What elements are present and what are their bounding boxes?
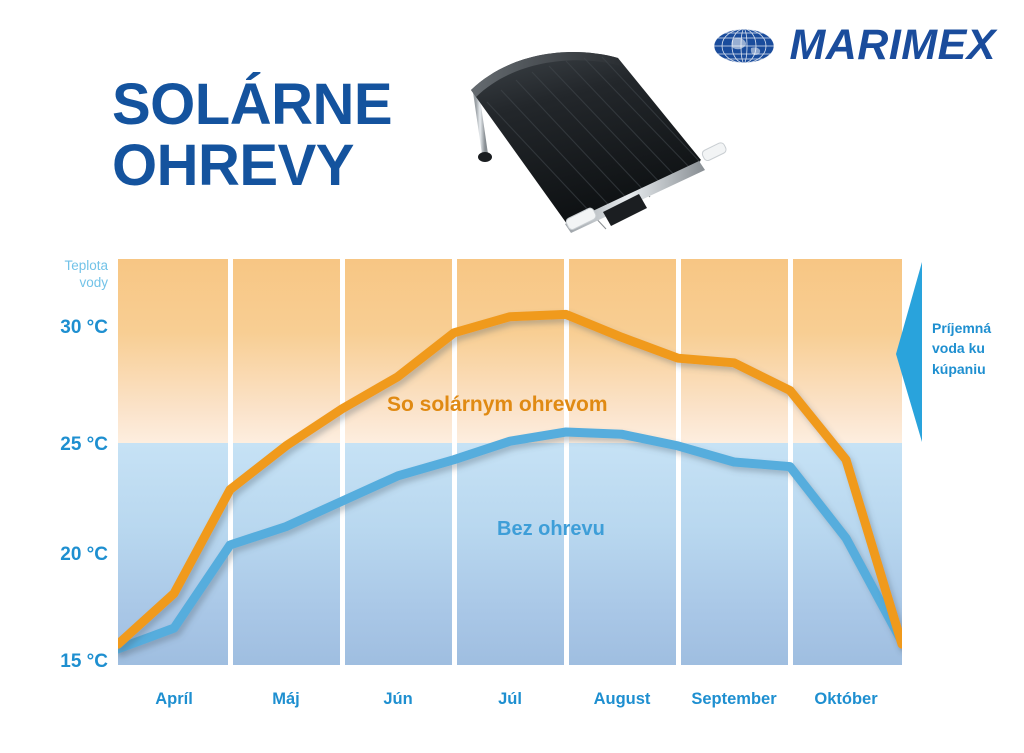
- pipe-connector-right: [701, 141, 727, 161]
- x-tick-jun: Jún: [342, 690, 454, 718]
- x-tick-april: Apríl: [118, 690, 230, 718]
- page-title-line-2: OHREVY: [112, 135, 492, 196]
- series-line-so-solarnym-ohrevom: [118, 314, 902, 644]
- x-axis: Apríl Máj Jún Júl August September Októb…: [118, 690, 902, 718]
- series-label-so-solarnym-ohrevom: So solárnym ohrevom: [387, 393, 608, 417]
- annotation-line-2: voda ku: [932, 338, 1024, 358]
- chart-plot-area: [118, 259, 902, 665]
- brand-name: MARIMEX: [789, 24, 996, 67]
- solar-panel-product-image: [443, 44, 728, 239]
- x-tick-jul: Júl: [454, 690, 566, 718]
- x-tick-oktober: Október: [790, 690, 902, 718]
- y-tick-25: 25 °C: [60, 434, 108, 456]
- y-tick-15: 15 °C: [60, 651, 108, 673]
- series-label-bez-ohrevu: Bez ohrevu: [497, 518, 605, 541]
- x-tick-august: August: [566, 690, 678, 718]
- y-tick-30: 30 °C: [60, 317, 108, 339]
- left-pointing-arrow-icon: [896, 262, 922, 442]
- x-tick-september: September: [678, 690, 790, 718]
- annotation-line-3: kúpaniu: [932, 359, 1024, 379]
- annotation-line-1: Príjemná: [932, 318, 1024, 338]
- page-title: SOLÁRNE OHREVY: [112, 74, 492, 197]
- y-axis: 30 °C 25 °C 20 °C 15 °C: [0, 259, 108, 665]
- page-title-line-1: SOLÁRNE: [112, 72, 392, 137]
- chart-series-svg: [118, 259, 902, 665]
- annotation-text: Príjemná voda ku kúpaniu: [932, 318, 1024, 379]
- brand-logo: MARIMEX: [713, 24, 996, 67]
- infographic-canvas: SOLÁRNE OHREVY MARIMEX: [0, 0, 1024, 753]
- x-tick-maj: Máj: [230, 690, 342, 718]
- y-tick-20: 20 °C: [60, 544, 108, 566]
